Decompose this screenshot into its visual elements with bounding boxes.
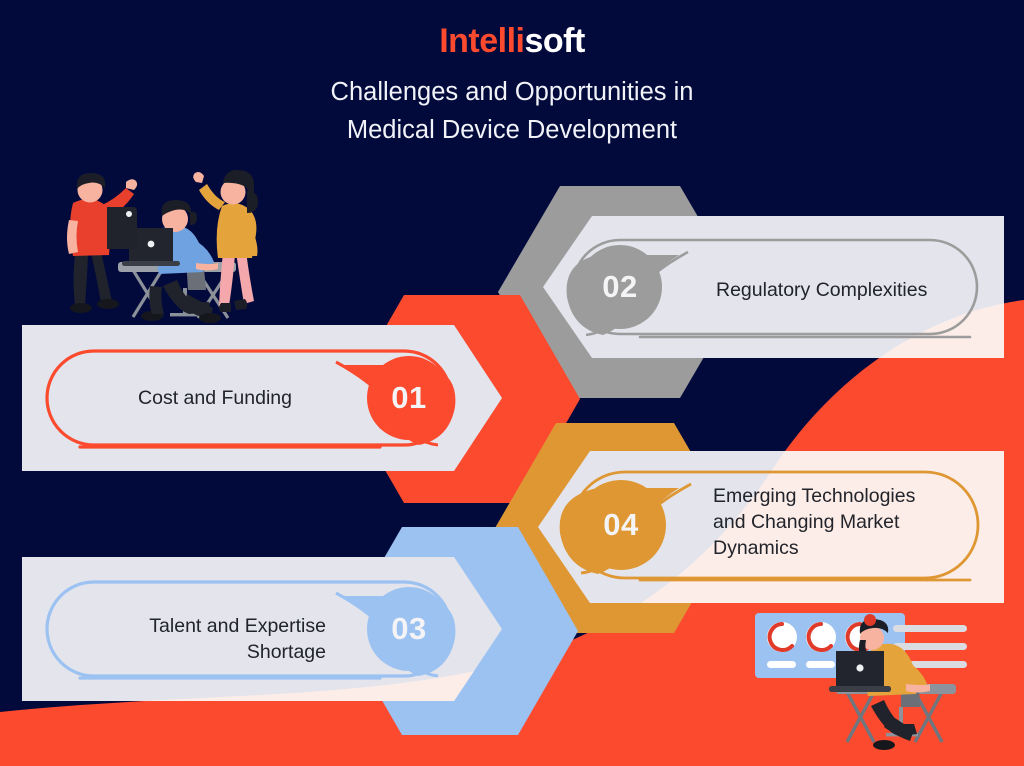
logo-part-intelli: Intelli — [439, 22, 524, 60]
gauge-icons — [767, 622, 875, 652]
infographic-canvas: Intellisoft Challenges and Opportunities… — [0, 0, 1024, 766]
card-02-label: Regulatory Complexities — [716, 277, 986, 303]
card-02-number: 02 — [602, 269, 637, 305]
card-03-label-line1: Talent and Expertise — [70, 613, 326, 639]
header: Intellisoft Challenges and Opportunities… — [0, 0, 1024, 149]
card-01-number: 01 — [391, 380, 426, 416]
card-02-label-line1: Regulatory Complexities — [716, 277, 986, 303]
logo-part-soft: soft — [524, 22, 584, 60]
card-01-label-line1: Cost and Funding — [80, 385, 350, 411]
card-03-number: 03 — [391, 611, 426, 647]
card-03-label-line2: Shortage — [70, 639, 326, 665]
card-04-number: 04 — [603, 507, 638, 543]
card-04-label: Emerging Technologies and Changing Marke… — [713, 483, 963, 561]
card-04-label-line1: Emerging Technologies — [713, 483, 963, 509]
card-03-label: Talent and Expertise Shortage — [70, 613, 326, 665]
card-04-label-line2: and Changing Market — [713, 509, 963, 535]
laptop-icon-2 — [829, 651, 891, 692]
brand-logo: Intellisoft — [0, 24, 1024, 58]
card-01-label: Cost and Funding — [80, 385, 350, 411]
page-title-line2: Medical Device Development — [0, 112, 1024, 150]
page-title-line1: Challenges and Opportunities in — [0, 74, 1024, 112]
page-title: Challenges and Opportunities in Medical … — [0, 74, 1024, 149]
card-04-label-line3: Dynamics — [713, 535, 963, 561]
